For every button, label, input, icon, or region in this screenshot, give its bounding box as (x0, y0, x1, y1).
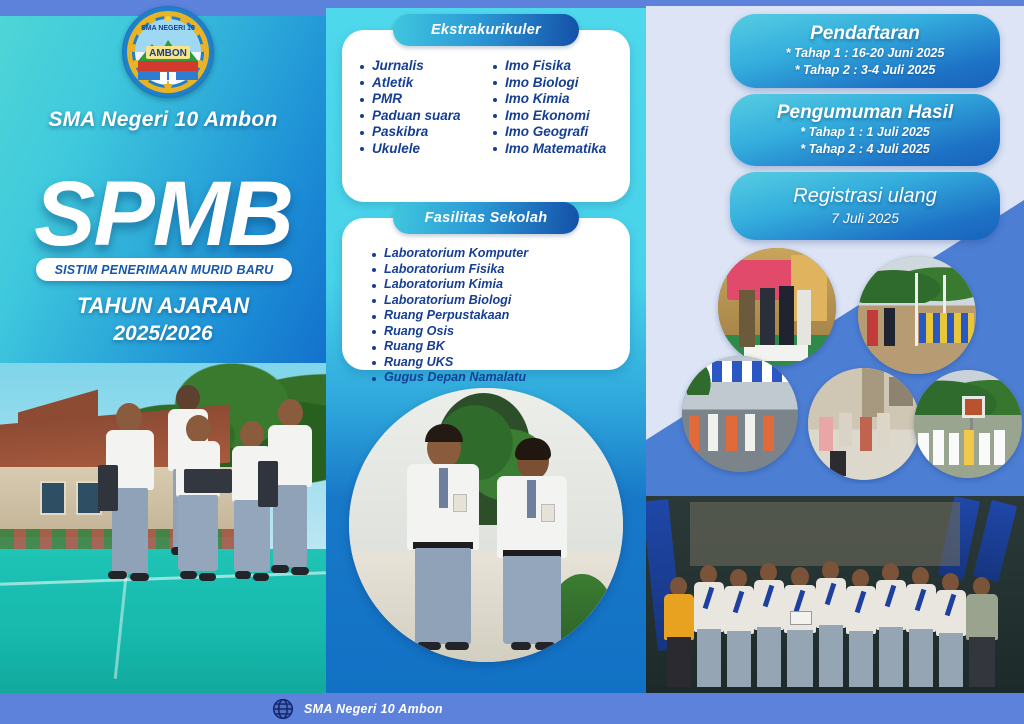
person (784, 567, 816, 687)
photo-student (268, 399, 312, 593)
pill-pendaftaran: Pendaftaran * Tahap 1 : 16-20 Juni 2025 … (730, 14, 1000, 88)
list-item: Laboratorium Biologi (368, 293, 616, 309)
left-photo-students-laptops (0, 363, 326, 693)
list-item: Paduan suara (356, 108, 483, 125)
footer-school-name: SMA Negeri 10 Ambon (304, 702, 443, 716)
list-item: Imo Geografi (489, 124, 616, 141)
center-column: Ekstrakurikuler Jurnalis Atletik PMR Pad… (326, 0, 646, 693)
list-item: Ruang Perpustakaan (368, 308, 616, 324)
pill-heading: Pendaftaran (810, 23, 920, 45)
list-item: Imo Kimia (489, 91, 616, 108)
photo-award-ceremony (718, 248, 836, 366)
person (846, 569, 876, 687)
list-item: Gugus Depan Namalatu (368, 370, 616, 386)
photo-student (106, 403, 154, 593)
extracurricular-card-title: Ekstrakurikuler (393, 14, 579, 46)
list-item: Ruang BK (368, 339, 616, 355)
photo-window (40, 481, 66, 515)
facilities-card-title: Fasilitas Sekolah (393, 202, 579, 234)
extracurricular-list-left: Jurnalis Atletik PMR Paduan suara Paskib… (356, 58, 483, 157)
list-item: Ruang UKS (368, 355, 616, 371)
academic-year-label: TAHUN AJARAN (0, 292, 326, 320)
person (694, 565, 724, 687)
photo-student-female (497, 442, 567, 654)
photo-dance-performance (682, 356, 798, 472)
facilities-list: Laboratorium Komputer Laboratorium Fisik… (356, 246, 616, 386)
list-item: PMR (356, 91, 483, 108)
person (816, 561, 846, 687)
school-crest-logo: AMBON SMA NEGERI 10 (122, 6, 214, 98)
person (906, 567, 936, 687)
globe-icon (272, 698, 294, 720)
photo-student (176, 415, 220, 601)
academic-year-value: 2025/2026 (0, 320, 326, 348)
pill-pengumuman-hasil: Pengumuman Hasil * Tahap 1 : 1 Juli 2025… (730, 94, 1000, 166)
extracurricular-list-right: Imo Fisika Imo Biologi Imo Kimia Imo Eko… (489, 58, 616, 157)
person (724, 569, 754, 687)
center-top-band (326, 0, 646, 8)
list-item: Atletik (356, 75, 483, 92)
extracurricular-card-body: Jurnalis Atletik PMR Paduan suara Paskib… (342, 58, 630, 157)
facilities-card-body: Laboratorium Komputer Laboratorium Fisik… (342, 246, 630, 386)
list-item: Laboratorium Komputer (368, 246, 616, 262)
school-name-heading: SMA Negeri 10 Ambon (0, 108, 326, 132)
facilities-card: Fasilitas Sekolah Laboratorium Komputer … (342, 218, 630, 370)
list-item: Imo Ekonomi (489, 108, 616, 125)
list-item: Jurnalis (356, 58, 483, 75)
list-item: Laboratorium Kimia (368, 277, 616, 293)
person (966, 577, 998, 687)
right-top-band (646, 0, 1024, 6)
list-item: Imo Biologi (489, 75, 616, 92)
pill-heading: Pengumuman Hasil (777, 102, 953, 124)
list-item: Paskibra (356, 124, 483, 141)
photo-student (232, 421, 272, 601)
globe-icon-svg (272, 698, 294, 720)
svg-text:AMBON: AMBON (149, 48, 187, 59)
list-item: Imo Matematika (489, 141, 616, 158)
person (664, 577, 694, 687)
photo-classroom-activity (808, 368, 920, 480)
list-item: Ruang Osis (368, 324, 616, 340)
photo-students-in-white (914, 370, 1022, 478)
group-photo-top-band (646, 484, 1024, 496)
pill-registrasi-ulang: Registrasi ulang 7 Juli 2025 (730, 172, 1000, 240)
school-crest-svg: AMBON SMA NEGERI 10 (122, 6, 214, 98)
photo-flag-ceremony (858, 256, 976, 374)
left-panel: AMBON SMA NEGERI 10 SMA Negeri 10 Ambon … (0, 0, 326, 693)
svg-text:SMA NEGERI 10: SMA NEGERI 10 (141, 25, 195, 32)
pill-line-2: * Tahap 2 : 3-4 Juli 2025 (795, 62, 936, 79)
group-photo-students-celebrating (646, 484, 1024, 693)
poster-root: AMBON SMA NEGERI 10 SMA Negeri 10 Ambon … (0, 0, 1024, 724)
academic-year-block: TAHUN AJARAN 2025/2026 (0, 292, 326, 348)
list-item: Laboratorium Fisika (368, 262, 616, 278)
page-title: SPMB (0, 168, 326, 260)
extracurricular-card: Ekstrakurikuler Jurnalis Atletik PMR Pad… (342, 30, 630, 202)
list-item: Imo Fisika (489, 58, 616, 75)
subtitle-pill: SISTIM PENERIMAAN MURID BARU (36, 258, 292, 281)
photo-student-male (407, 428, 479, 652)
list-item: Ukulele (356, 141, 483, 158)
pill-line-2: * Tahap 2 : 4 Juli 2025 (800, 141, 929, 158)
footer-bar: SMA Negeri 10 Ambon (0, 693, 1024, 724)
person (754, 563, 784, 687)
group-photo-crowd (664, 537, 1006, 687)
pill-line-1: 7 Juli 2025 (831, 210, 899, 227)
pill-heading: Registrasi ulang (793, 185, 936, 207)
right-panel: Pendaftaran * Tahap 1 : 16-20 Juni 2025 … (646, 0, 1024, 693)
person (876, 563, 906, 687)
center-photo-two-students (349, 388, 623, 662)
person (936, 573, 966, 687)
pill-line-1: * Tahap 1 : 1 Juli 2025 (800, 124, 929, 141)
pill-line-1: * Tahap 1 : 16-20 Juni 2025 (786, 45, 945, 62)
